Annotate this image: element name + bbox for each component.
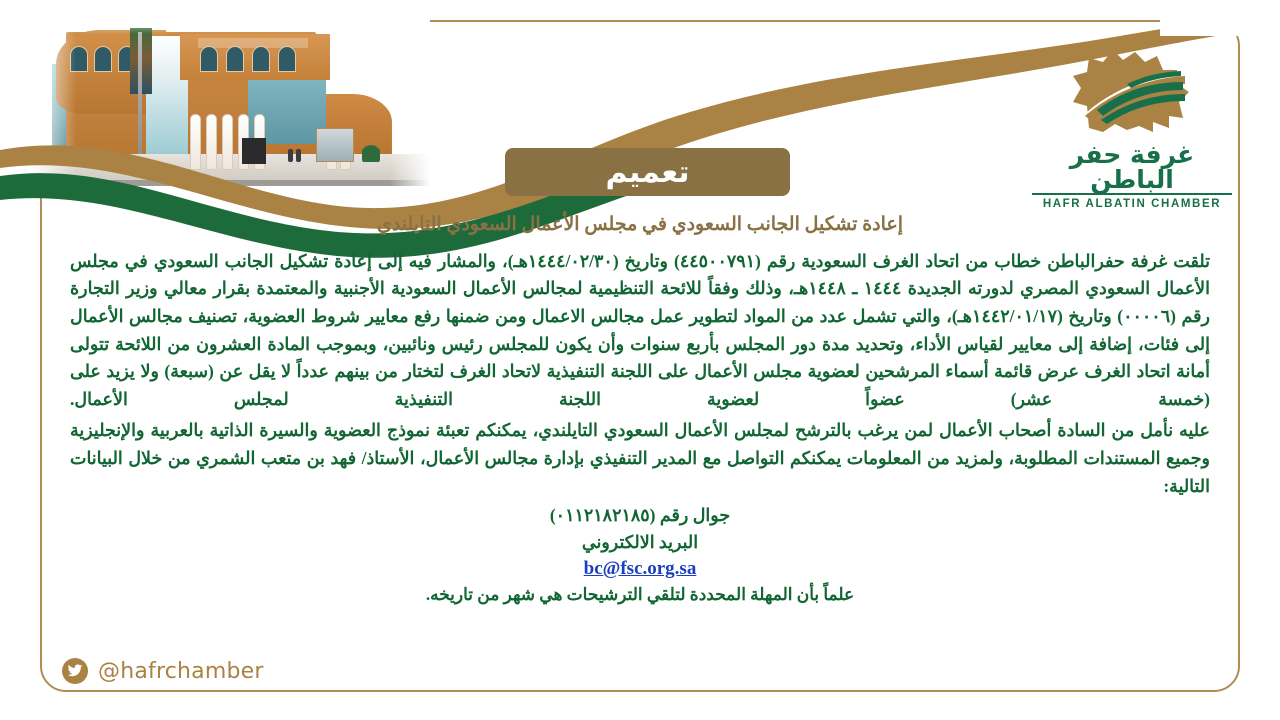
logo-english-name: HAFR ALBATIN CHAMBER [1032, 198, 1232, 210]
announcement-subject: إعادة تشكيل الجانب السعودي في مجلس الأعم… [70, 212, 1210, 238]
photo-palm [362, 140, 380, 162]
photo-arch-window [200, 46, 218, 72]
photo-column [206, 114, 217, 170]
photo-flag-pole [138, 32, 142, 162]
photo-arch-window [226, 46, 244, 72]
twitter-icon[interactable] [62, 658, 88, 684]
contact-email-label: البريد الالكتروني [70, 529, 1210, 555]
announcement-page: غرفة حفر الباطن HAFR ALBATIN CHAMBER تعم… [0, 0, 1280, 720]
frame-mask [1160, 0, 1280, 36]
photo-arch-window [278, 46, 296, 72]
contact-phone: جوال رقم (٠١١٢١٨٢١٨٥) [70, 502, 1210, 528]
circular-title-text: تعميم [605, 155, 689, 190]
twitter-handle-text: @hafrchamber [98, 659, 264, 684]
announcement-content: إعادة تشكيل الجانب السعودي في مجلس الأعم… [70, 212, 1210, 605]
photo-kerb [30, 180, 430, 186]
photo-fade-right [390, 8, 430, 188]
photo-arch-window [94, 46, 112, 72]
photo-column [222, 114, 233, 170]
body-paragraph-2: عليه نأمل من السادة أصحاب الأعمال لمن ير… [70, 417, 1210, 500]
photo-entrance [316, 128, 354, 162]
circular-title-banner: تعميم [505, 148, 790, 196]
chamber-logo: غرفة حفر الباطن HAFR ALBATIN CHAMBER [1032, 40, 1232, 210]
chamber-building-photo [30, 8, 430, 188]
photo-arch-window [252, 46, 270, 72]
photo-person [288, 149, 293, 162]
social-handle[interactable]: @hafrchamber [62, 658, 264, 684]
contact-email-link[interactable]: bc@fsc.org.sa [584, 555, 697, 584]
deadline-note: علماً بأن المهلة المحددة لتلقي الترشيحات… [70, 585, 1210, 605]
logo-arabic-name: غرفة حفر الباطن [1032, 142, 1232, 195]
photo-column [190, 114, 201, 170]
chamber-gear-dune-logo [1057, 40, 1207, 140]
photo-street-box [242, 138, 266, 164]
contact-email-wrapper: bc@fsc.org.sa [70, 555, 1210, 584]
body-paragraph-1: تلقت غرفة حفرالباطن خطاب من اتحاد الغرف … [70, 248, 1210, 414]
photo-fade-left [30, 8, 76, 188]
photo-person [296, 149, 301, 162]
photo-fade-top [30, 8, 430, 34]
